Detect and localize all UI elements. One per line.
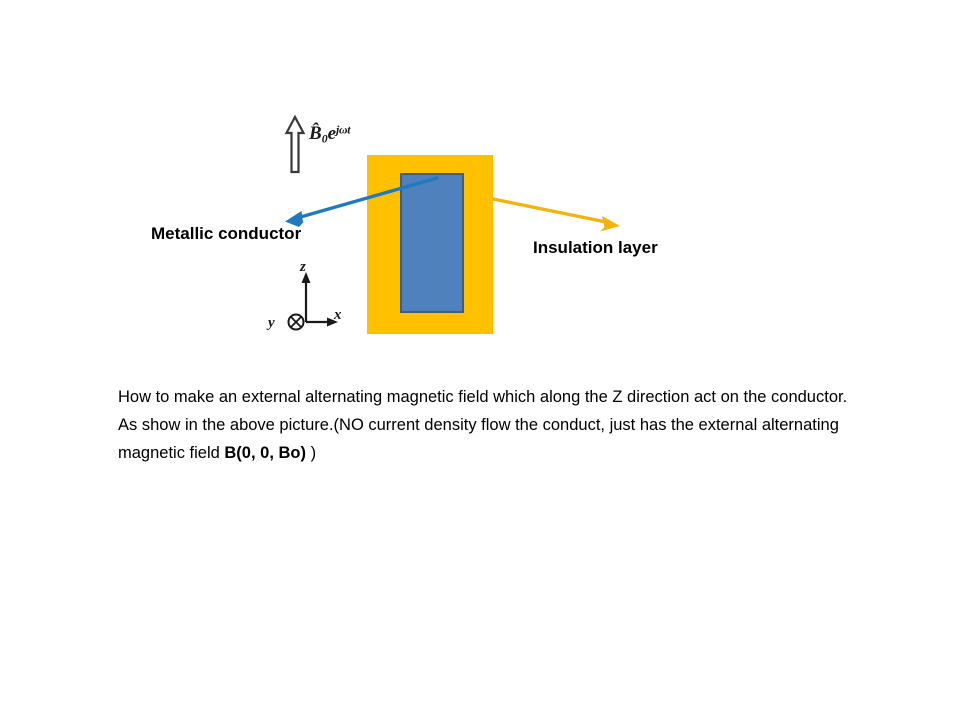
metallic-conductor-rect[interactable] xyxy=(400,173,464,313)
e-base: e xyxy=(328,123,336,144)
e-exponent: jωt xyxy=(336,124,350,137)
axis-label-y: y xyxy=(268,315,275,332)
slide-canvas: B̂0ejωt z x y Metallic conductor Insulat… xyxy=(0,0,960,720)
metallic-conductor-label: Metallic conductor xyxy=(151,224,301,244)
paragraph-segment-2: ) xyxy=(306,444,316,462)
magnetic-field-formula: B̂0ejωt xyxy=(309,123,350,146)
axis-label-x: x xyxy=(334,307,342,324)
magnetic-field-arrow xyxy=(287,117,304,172)
b-hat-symbol: B̂ xyxy=(309,123,322,145)
insulation-layer-label: Insulation layer xyxy=(533,238,658,258)
paragraph-segment-1: B(0, 0, Bo) xyxy=(224,444,306,462)
question-paragraph: How to make an external alternating magn… xyxy=(118,383,848,467)
coordinate-axes xyxy=(289,272,339,330)
axis-label-z: z xyxy=(300,259,306,276)
vector-overlay xyxy=(0,0,960,720)
insulation-callout-arrow[interactable] xyxy=(493,199,620,232)
